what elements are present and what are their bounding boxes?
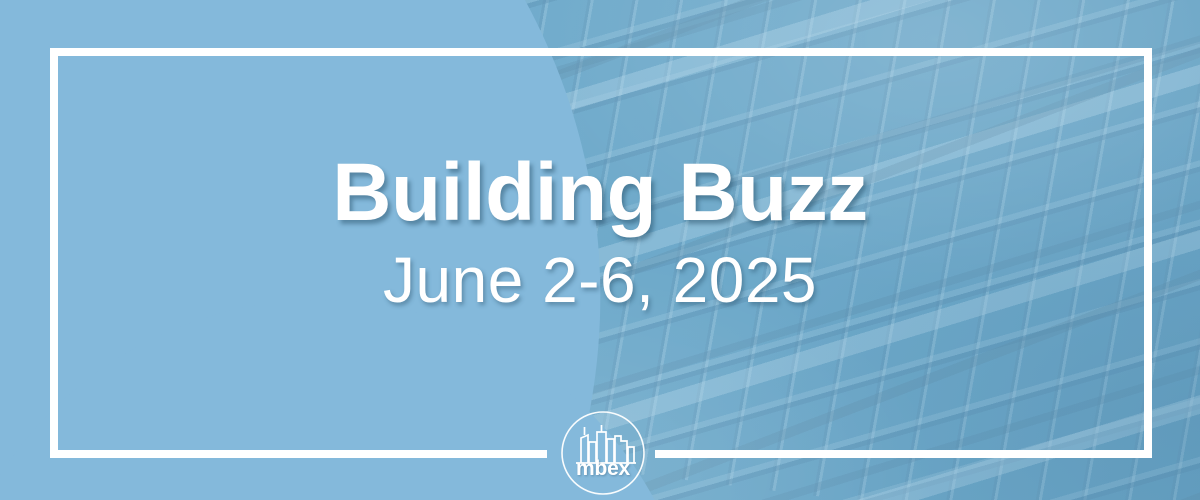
building-buzz-banner: Building Buzz June 2-6, 2025 <box>0 0 1200 500</box>
banner-date-subtitle: June 2-6, 2025 <box>383 248 817 312</box>
city-skyline-in-circle-icon <box>558 408 648 498</box>
mbex-wordmark: mbex <box>558 458 648 479</box>
banner-title: Building Buzz <box>332 152 868 234</box>
mbex-logo: mbex <box>558 408 648 498</box>
